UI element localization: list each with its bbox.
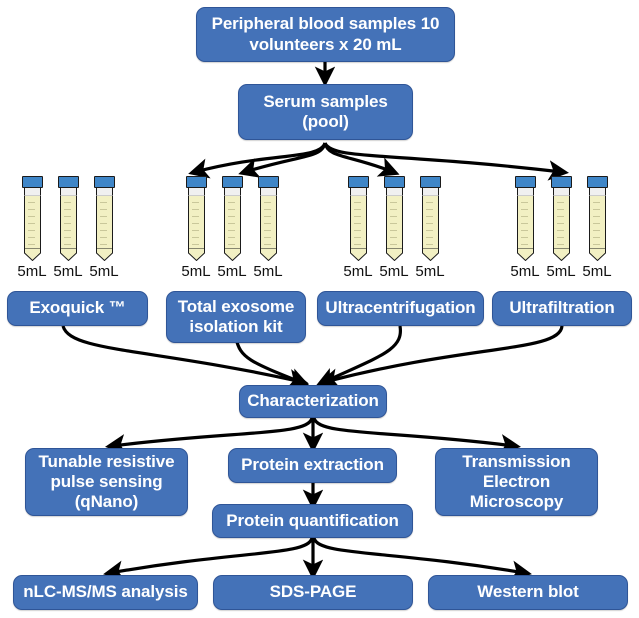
edge-uc-to-char: [322, 326, 400, 383]
tube-body: [224, 196, 241, 248]
volume-label: 5mL: [215, 263, 249, 280]
node-qnano[interactable]: Tunable resistive pulse sensing (qNano): [25, 448, 188, 516]
tube-neck: [96, 188, 113, 196]
tube-body: [350, 196, 367, 248]
tube-cap-icon: [420, 176, 441, 188]
tube-tip: [386, 248, 403, 261]
tube-tip: [60, 248, 77, 261]
volume-label: 5mL: [580, 263, 614, 280]
tube-body: [517, 196, 534, 248]
tube-body: [260, 196, 277, 248]
edge-serum-to-exoquick: [195, 143, 325, 172]
tube-neck: [188, 188, 205, 196]
volume-label: 5mL: [377, 263, 411, 280]
volume-label: 5mL: [15, 263, 49, 280]
node-ultracentrifugation[interactable]: Ultracentrifugation: [317, 291, 484, 326]
tube-neck: [224, 188, 241, 196]
volume-label: 5mL: [341, 263, 375, 280]
edge-char-to-qnano: [112, 418, 312, 446]
tube-cap-icon: [551, 176, 572, 188]
node-qnano-label: Tunable resistive pulse sensing (qNano): [26, 452, 187, 512]
node-protein-extraction[interactable]: Protein extraction: [228, 448, 397, 483]
volume-label: 5mL: [51, 263, 85, 280]
edge-char-to-tem: [314, 418, 514, 446]
node-serum-samples[interactable]: Serum samples (pool): [238, 84, 413, 140]
node-protein-quantification-label: Protein quantification: [220, 511, 405, 531]
tube-body: [553, 196, 570, 248]
tube-cap-icon: [186, 176, 207, 188]
tube-tip: [517, 248, 534, 261]
tube-neck: [422, 188, 439, 196]
node-peripheral-blood-label: Peripheral blood samples 10 volunteers x…: [197, 14, 454, 54]
tube-cap-icon: [348, 176, 369, 188]
edge-serum-to-kit: [245, 143, 325, 172]
volume-label: 5mL: [251, 263, 285, 280]
node-exoquick[interactable]: Exoquick ™: [7, 291, 148, 326]
tube-tip: [24, 248, 41, 261]
edge-serum-to-uc: [325, 143, 393, 172]
tube-neck: [350, 188, 367, 196]
tube-cap-icon: [258, 176, 279, 188]
tube-tip: [589, 248, 606, 261]
tube-tip: [422, 248, 439, 261]
node-western-blot[interactable]: Western blot: [428, 575, 628, 610]
flowchart-diagram: Peripheral blood samples 10 volunteers x…: [0, 0, 639, 618]
edge-kit-to-char: [236, 338, 303, 383]
node-transmission-electron-microscopy-label: Transmission Electron Microscopy: [436, 452, 597, 512]
tube-neck: [60, 188, 77, 196]
tube-tip: [553, 248, 570, 261]
tube-neck: [553, 188, 570, 196]
tube-tip: [350, 248, 367, 261]
node-protein-extraction-label: Protein extraction: [235, 455, 390, 475]
tube-neck: [260, 188, 277, 196]
tube-body: [188, 196, 205, 248]
node-western-blot-label: Western blot: [471, 582, 584, 602]
volume-label: 5mL: [87, 263, 121, 280]
edge-serum-to-uf: [325, 143, 562, 172]
tube-body: [386, 196, 403, 248]
tube-tip: [96, 248, 113, 261]
node-total-exosome-isolation-kit[interactable]: Total exosome isolation kit: [166, 291, 306, 343]
edge-quant-to-wb: [314, 538, 525, 573]
node-total-exosome-isolation-kit-label: Total exosome isolation kit: [167, 297, 305, 337]
edge-uf-to-char: [325, 326, 562, 382]
node-nlc-ms-ms-analysis[interactable]: nLC-MS/MS analysis: [13, 575, 198, 610]
edge-quant-to-nlc: [110, 538, 312, 573]
node-ultrafiltration[interactable]: Ultrafiltration: [492, 291, 632, 326]
node-ultracentrifugation-label: Ultracentrifugation: [319, 298, 481, 318]
tube-body: [589, 196, 606, 248]
node-nlc-ms-ms-analysis-label: nLC-MS/MS analysis: [17, 582, 193, 602]
volume-label: 5mL: [413, 263, 447, 280]
node-ultrafiltration-label: Ultrafiltration: [503, 298, 620, 318]
tube-neck: [589, 188, 606, 196]
tube-cap-icon: [515, 176, 536, 188]
node-characterization[interactable]: Characterization: [239, 385, 387, 418]
node-exoquick-label: Exoquick ™: [23, 298, 131, 318]
volume-label: 5mL: [508, 263, 542, 280]
tube-cap-icon: [587, 176, 608, 188]
tube-cap-icon: [94, 176, 115, 188]
volume-label: 5mL: [179, 263, 213, 280]
tube-tip: [224, 248, 241, 261]
tube-cap-icon: [222, 176, 243, 188]
tube-cap-icon: [384, 176, 405, 188]
node-sds-page[interactable]: SDS-PAGE: [213, 575, 413, 610]
tube-body: [422, 196, 439, 248]
node-transmission-electron-microscopy[interactable]: Transmission Electron Microscopy: [435, 448, 598, 516]
volume-label: 5mL: [544, 263, 578, 280]
node-peripheral-blood[interactable]: Peripheral blood samples 10 volunteers x…: [196, 7, 455, 62]
tube-neck: [517, 188, 534, 196]
node-sds-page-label: SDS-PAGE: [264, 582, 363, 602]
tube-cap-icon: [58, 176, 79, 188]
tube-cap-icon: [22, 176, 43, 188]
node-protein-quantification[interactable]: Protein quantification: [212, 504, 413, 538]
node-serum-samples-label: Serum samples (pool): [239, 92, 412, 132]
tube-tip: [260, 248, 277, 261]
tube-body: [96, 196, 113, 248]
tube-neck: [24, 188, 41, 196]
tube-neck: [386, 188, 403, 196]
tube-body: [60, 196, 77, 248]
tube-tip: [188, 248, 205, 261]
tube-body: [24, 196, 41, 248]
node-characterization-label: Characterization: [241, 391, 385, 411]
